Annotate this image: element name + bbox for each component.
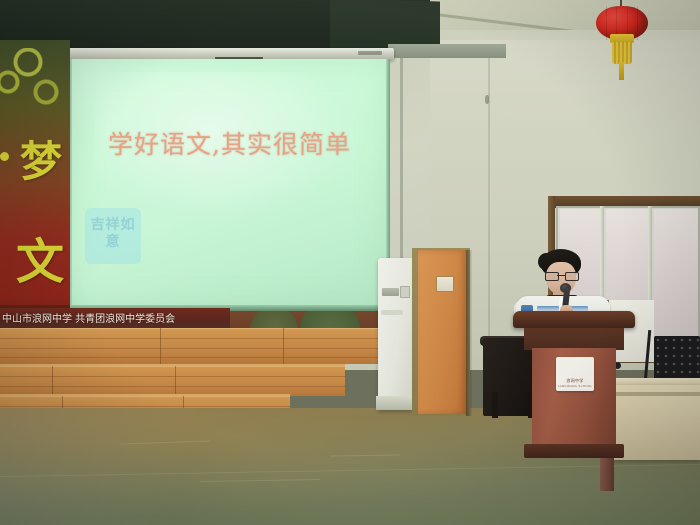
folding-table-rail [612,392,700,396]
projection-screen [72,59,387,309]
air-conditioner-unit [378,258,414,410]
door-vision-panel [436,276,454,292]
podium-neck [524,328,624,350]
emblem-text-line2: LANGWANG SCHOOL [557,384,593,388]
door-shadow [466,250,472,416]
lantern-tassel-tail [619,62,624,80]
banner-bullet-dot [0,152,9,161]
banner-character-top: 梦 [20,128,62,189]
side-door[interactable] [418,250,466,414]
slide-title-text: 学好语文,其实很简单 [72,125,387,161]
window-pane-3 [654,209,698,355]
screen-brand-logo [358,51,382,55]
air-conditioner-base [376,396,416,410]
stage-step-upper [0,328,400,364]
air-conditioner-grille [382,288,399,296]
podium-top-surface [513,311,635,328]
slide-watermark-text: 吉祥如意 [85,208,141,264]
piano-leg-left [492,392,498,418]
podium-base [524,444,624,458]
banner-character-bottom: 文 [16,222,64,292]
wall-soffit [388,44,506,58]
mesh-chair-back[interactable] [654,336,700,384]
air-conditioner-control-panel[interactable] [400,286,410,298]
banner-credit-text: 中山市浪网中学 共青团浪网中学委员会 [2,310,232,325]
slide-watermark-seal: 吉祥如意 [85,208,141,264]
wall-scuff-mark [485,95,489,104]
glasses-icon [545,272,577,279]
folding-table [612,385,700,460]
auditorium-photo: 学好语文,其实很简单 吉祥如意 梦 文 中山市浪网中学 共青团浪网中学委员会 [0,0,700,525]
air-conditioner-vent [381,310,403,315]
lantern-tassel [612,42,632,64]
